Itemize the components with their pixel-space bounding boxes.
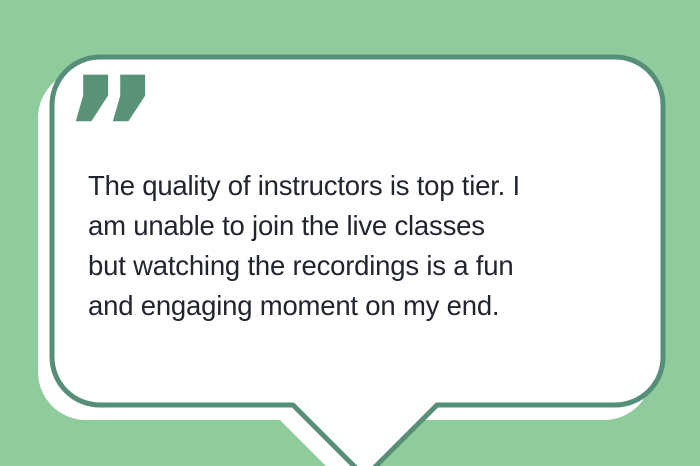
quote-text-block: The quality of instructors is top tier. … [88,166,628,326]
quotation-mark-icon: ” [62,58,182,154]
quote-line: but watching the recordings is a fun [88,246,628,286]
quote-line: and engaging moment on my end. [88,286,628,326]
quote-line: The quality of instructors is top tier. … [88,166,628,206]
quote-line: am unable to join the live classes [88,206,628,246]
testimonial-card: ” The quality of instructors is top tier… [0,0,700,466]
